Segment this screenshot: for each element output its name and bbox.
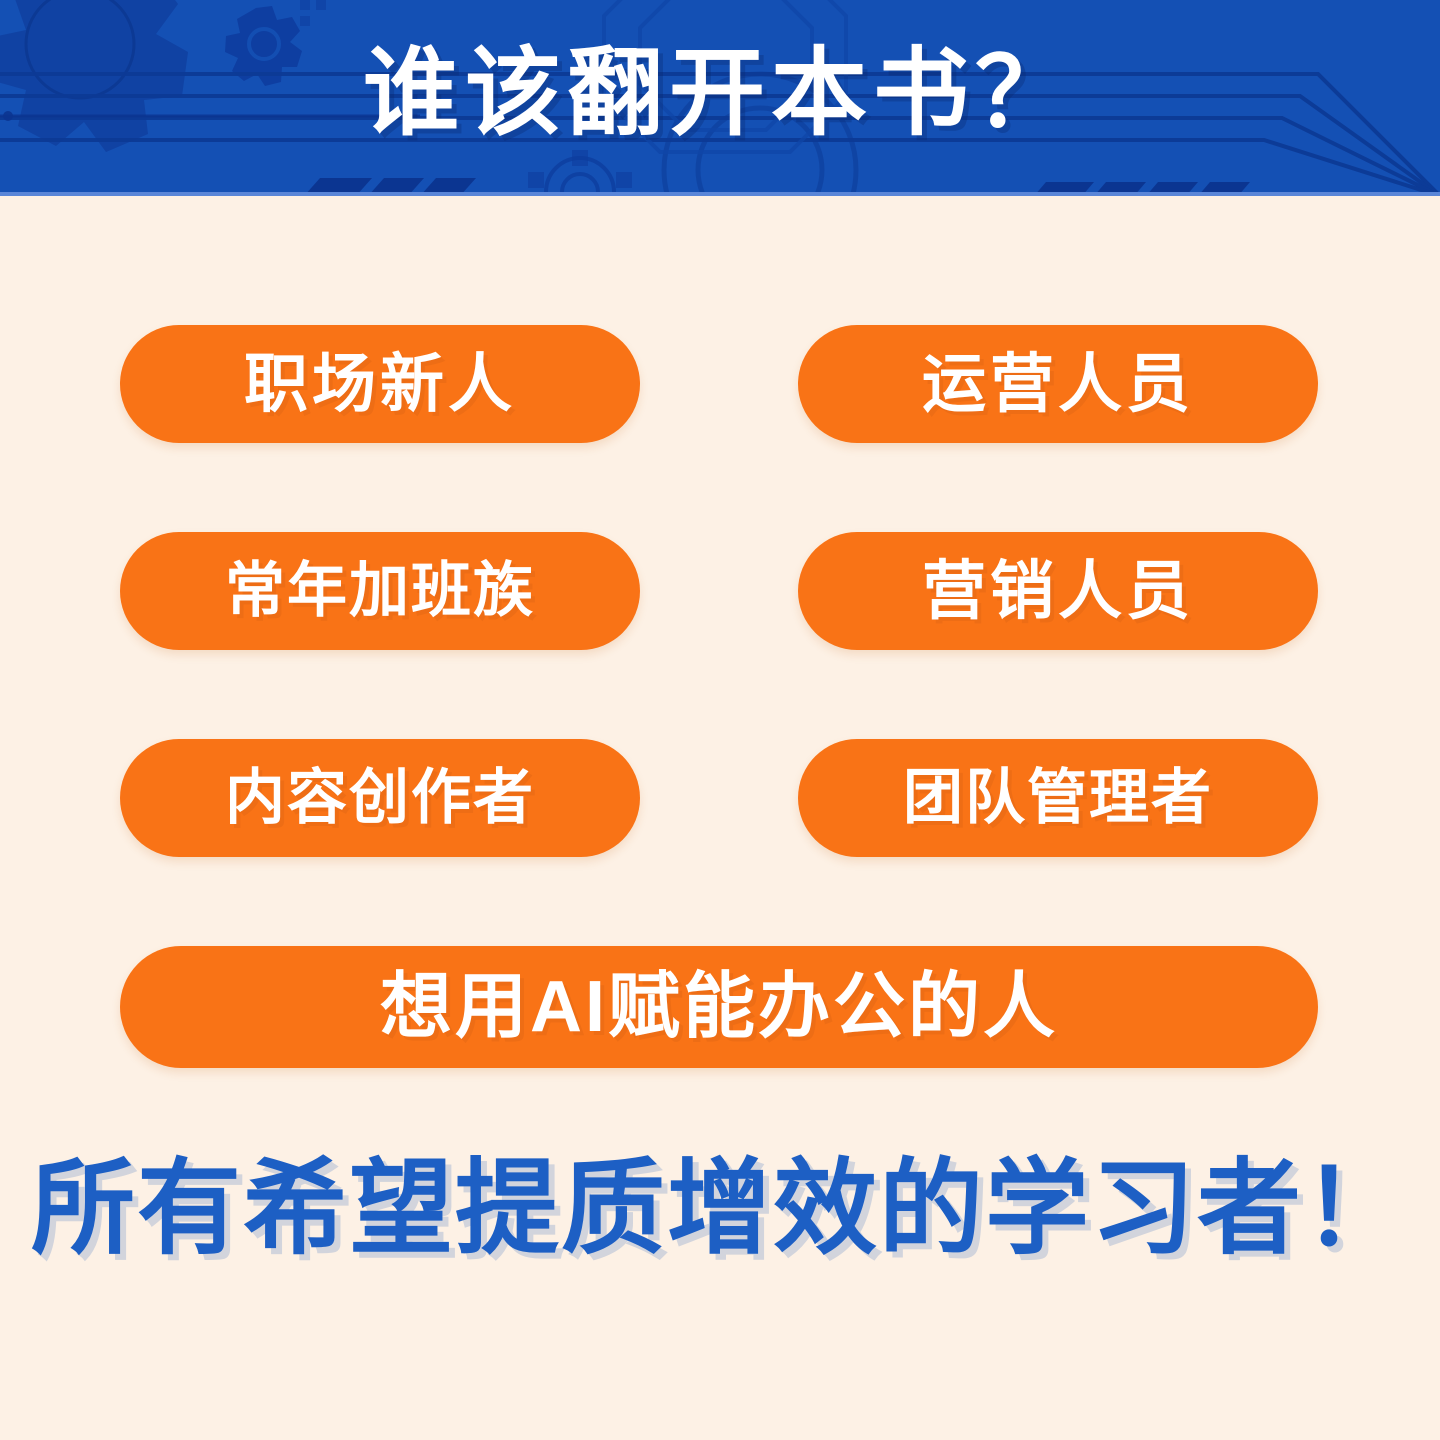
header-banner: 谁该翻开本书？ — [0, 0, 1440, 196]
audience-pill-label: 营销人员 — [922, 559, 1194, 623]
audience-pill-content-creators[interactable]: 内容创作者 — [120, 739, 640, 857]
page-title: 谁该翻开本书？ — [0, 0, 1440, 196]
audience-row-2: 常年加班族 营销人员 — [120, 532, 1318, 650]
audience-row-3: 内容创作者 团队管理者 — [120, 739, 1318, 857]
audience-row-1: 职场新人 运营人员 — [120, 325, 1318, 443]
audience-pill-grid: 职场新人 运营人员 常年加班族 营销人员 内容创作者 团队管理者 想用AI赋能办… — [120, 325, 1318, 1068]
audience-pill-overtime-workers[interactable]: 常年加班族 — [120, 532, 640, 650]
audience-pill-career-newcomer[interactable]: 职场新人 — [120, 325, 640, 443]
audience-pill-label: 内容创作者 — [225, 768, 535, 828]
audience-pill-operations-staff[interactable]: 运营人员 — [798, 325, 1318, 443]
audience-pill-marketing-staff[interactable]: 营销人员 — [798, 532, 1318, 650]
audience-pill-label: 常年加班族 — [225, 561, 535, 621]
audience-pill-label: 想用AI赋能办公的人 — [380, 971, 1058, 1043]
footer-tagline: 所有希望提质增效的学习者！ — [0, 1150, 1440, 1270]
audience-pill-ai-empowered-office[interactable]: 想用AI赋能办公的人 — [120, 946, 1318, 1068]
banner-bottom-rule — [0, 192, 1440, 196]
audience-pill-label: 运营人员 — [922, 352, 1194, 416]
audience-pill-label: 团队管理者 — [903, 768, 1213, 828]
poster-root: 谁该翻开本书？ 职场新人 运营人员 常年加班族 营销人员 内容创作者 — [0, 0, 1440, 1440]
audience-pill-team-managers[interactable]: 团队管理者 — [798, 739, 1318, 857]
audience-pill-label: 职场新人 — [244, 352, 516, 416]
